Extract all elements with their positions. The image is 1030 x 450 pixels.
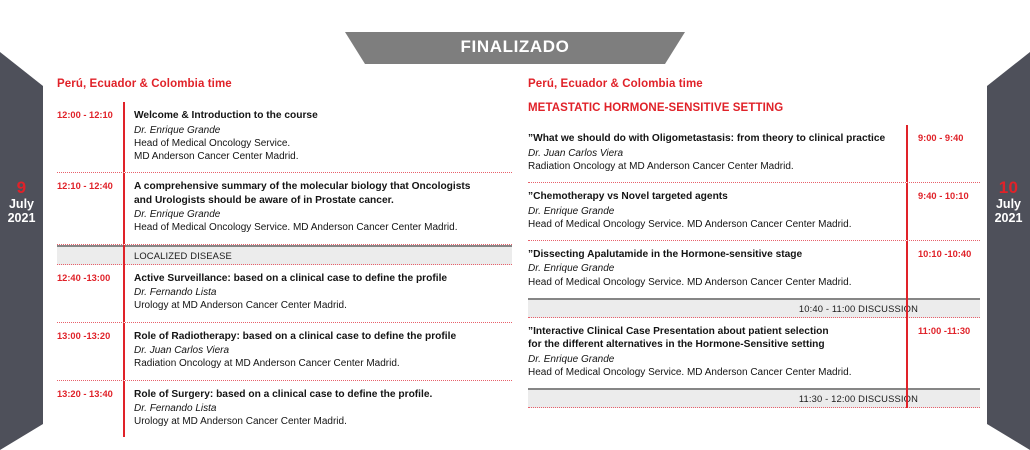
- agenda-row-time: 11:00 -11:30: [908, 318, 980, 389]
- timezone-heading-right: Perú, Ecuador & Colombia time: [528, 78, 980, 90]
- status-banner: FINALIZADO: [345, 32, 685, 64]
- status-banner-label: FINALIZADO: [461, 37, 570, 57]
- agenda-row-affiliation: Head of Medical Oncology Service. MD And…: [528, 276, 896, 289]
- agenda-row-body: Role of Surgery: based on a clinical cas…: [125, 381, 512, 438]
- date-left: 9 July 2021: [0, 178, 43, 225]
- agenda-list-day1: 12:00 - 12:10 Welcome & Introduction to …: [57, 102, 512, 437]
- agenda-row-body: ”Dissecting Apalutamide in the Hormone-s…: [528, 241, 906, 298]
- agenda-row[interactable]: ”What we should do with Oligometastasis:…: [528, 125, 980, 183]
- date-left-year: 2021: [0, 211, 43, 225]
- agenda-row[interactable]: 13:00 -13:20 Role of Radiotherapy: based…: [57, 323, 512, 381]
- agenda-row[interactable]: 12:00 - 12:10 Welcome & Introduction to …: [57, 102, 512, 173]
- agenda-row-time: 12:40 -13:00: [57, 265, 123, 322]
- agenda-row-speaker: Dr. Fernando Lista: [134, 286, 512, 299]
- discussion-band-1: 10:40 - 11:00 DISCUSSION: [528, 298, 980, 318]
- agenda-row-speaker: Dr. Enrique Grande: [528, 205, 896, 218]
- discussion-band-label: 10:40 - 11:00 DISCUSSION: [799, 303, 918, 314]
- agenda-row-body: Welcome & Introduction to the course Dr.…: [125, 102, 512, 172]
- agenda-list-day2: ”What we should do with Oligometastasis:…: [528, 125, 980, 408]
- agenda-row-affiliation: MD Anderson Cancer Center Madrid.: [134, 150, 512, 163]
- agenda-row-time: 12:10 - 12:40: [57, 173, 123, 244]
- agenda-row-speaker: Dr. Enrique Grande: [134, 208, 512, 221]
- agenda-row-title: ”Dissecting Apalutamide in the Hormone-s…: [528, 248, 896, 262]
- date-right-month: July: [987, 197, 1030, 211]
- section-band-localized-disease: LOCALIZED DISEASE: [57, 245, 512, 265]
- agenda-column-day2: Perú, Ecuador & Colombia time METASTATIC…: [528, 78, 980, 408]
- agenda-row-speaker: Dr. Juan Carlos Viera: [528, 147, 896, 160]
- agenda-row-speaker: Dr. Enrique Grande: [134, 124, 512, 137]
- date-right-day: 10: [987, 178, 1030, 197]
- discussion-band-rule: [906, 298, 908, 318]
- agenda-row-title: Welcome & Introduction to the course: [134, 109, 512, 123]
- agenda-row-affiliation: Radiation Oncology at MD Anderson Cancer…: [528, 160, 896, 173]
- section-heading-metastatic: METASTATIC HORMONE-SENSITIVE SETTING: [528, 102, 980, 114]
- agenda-row[interactable]: 12:40 -13:00 Active Surveillance: based …: [57, 265, 512, 323]
- agenda-page: 9 July 2021 10 July 2021 FINALIZADO Perú…: [0, 0, 1030, 450]
- agenda-row-body: Role of Radiotherapy: based on a clinica…: [125, 323, 512, 380]
- agenda-row-title: for the different alternatives in the Ho…: [528, 338, 896, 352]
- agenda-row-time: 13:20 - 13:40: [57, 381, 123, 438]
- agenda-row-title: ”What we should do with Oligometastasis:…: [528, 132, 896, 146]
- agenda-row-speaker: Dr. Juan Carlos Viera: [134, 344, 512, 357]
- section-band-rule: [123, 245, 125, 265]
- agenda-row-title: ”Interactive Clinical Case Presentation …: [528, 325, 896, 339]
- agenda-row[interactable]: ”Chemotherapy vs Novel targeted agents D…: [528, 183, 980, 241]
- agenda-row-affiliation: Radiation Oncology at MD Anderson Cancer…: [134, 357, 512, 370]
- agenda-row-title: A comprehensive summary of the molecular…: [134, 180, 512, 194]
- date-left-day: 9: [0, 178, 43, 197]
- discussion-band-2: 11:30 - 12:00 DISCUSSION: [528, 388, 980, 408]
- agenda-row-body: ”Chemotherapy vs Novel targeted agents D…: [528, 183, 906, 240]
- agenda-row-affiliation: Head of Medical Oncology Service.: [134, 137, 512, 150]
- agenda-row-time: 10:10 -10:40: [908, 241, 980, 298]
- discussion-band-label: 11:30 - 12:00 DISCUSSION: [799, 393, 918, 404]
- agenda-row-title: Role of Surgery: based on a clinical cas…: [134, 388, 512, 402]
- agenda-row-title: and Urologists should be aware of in Pro…: [134, 194, 512, 208]
- date-right-year: 2021: [987, 211, 1030, 225]
- agenda-row-title: Active Surveillance: based on a clinical…: [134, 272, 512, 286]
- agenda-row-speaker: Dr. Enrique Grande: [528, 353, 896, 366]
- agenda-row-speaker: Dr. Enrique Grande: [528, 262, 896, 275]
- date-panel-left: 9 July 2021: [0, 0, 60, 450]
- agenda-row-affiliation: Head of Medical Oncology Service. MD And…: [134, 221, 512, 234]
- agenda-row-title: ”Chemotherapy vs Novel targeted agents: [528, 190, 896, 204]
- agenda-row-time: 12:00 - 12:10: [57, 102, 123, 172]
- agenda-row-time: 13:00 -13:20: [57, 323, 123, 380]
- agenda-row-title: Role of Radiotherapy: based on a clinica…: [134, 330, 512, 344]
- date-left-month: July: [0, 197, 43, 211]
- agenda-row-body: ”Interactive Clinical Case Presentation …: [528, 318, 906, 389]
- agenda-row-affiliation: Head of Medical Oncology Service. MD And…: [528, 366, 896, 379]
- agenda-row-time: 9:00 - 9:40: [908, 125, 980, 182]
- agenda-row[interactable]: 12:10 - 12:40 A comprehensive summary of…: [57, 173, 512, 245]
- agenda-column-day1: Perú, Ecuador & Colombia time 12:00 - 12…: [57, 78, 512, 437]
- agenda-row-time: 9:40 - 10:10: [908, 183, 980, 240]
- agenda-row-speaker: Dr. Fernando Lista: [134, 402, 512, 415]
- agenda-row-body: A comprehensive summary of the molecular…: [125, 173, 512, 244]
- agenda-row-body: Active Surveillance: based on a clinical…: [125, 265, 512, 322]
- timezone-heading-left: Perú, Ecuador & Colombia time: [57, 78, 512, 90]
- discussion-band-rule: [906, 388, 908, 408]
- agenda-row-body: ”What we should do with Oligometastasis:…: [528, 125, 906, 182]
- agenda-row-affiliation: Urology at MD Anderson Cancer Center Mad…: [134, 415, 512, 428]
- section-band-label: LOCALIZED DISEASE: [134, 250, 232, 261]
- agenda-row-affiliation: Urology at MD Anderson Cancer Center Mad…: [134, 299, 512, 312]
- date-right: 10 July 2021: [987, 178, 1030, 225]
- agenda-row[interactable]: ”Dissecting Apalutamide in the Hormone-s…: [528, 241, 980, 298]
- agenda-row-affiliation: Head of Medical Oncology Service. MD And…: [528, 218, 896, 231]
- agenda-row[interactable]: 13:20 - 13:40 Role of Surgery: based on …: [57, 381, 512, 438]
- agenda-row[interactable]: ”Interactive Clinical Case Presentation …: [528, 318, 980, 389]
